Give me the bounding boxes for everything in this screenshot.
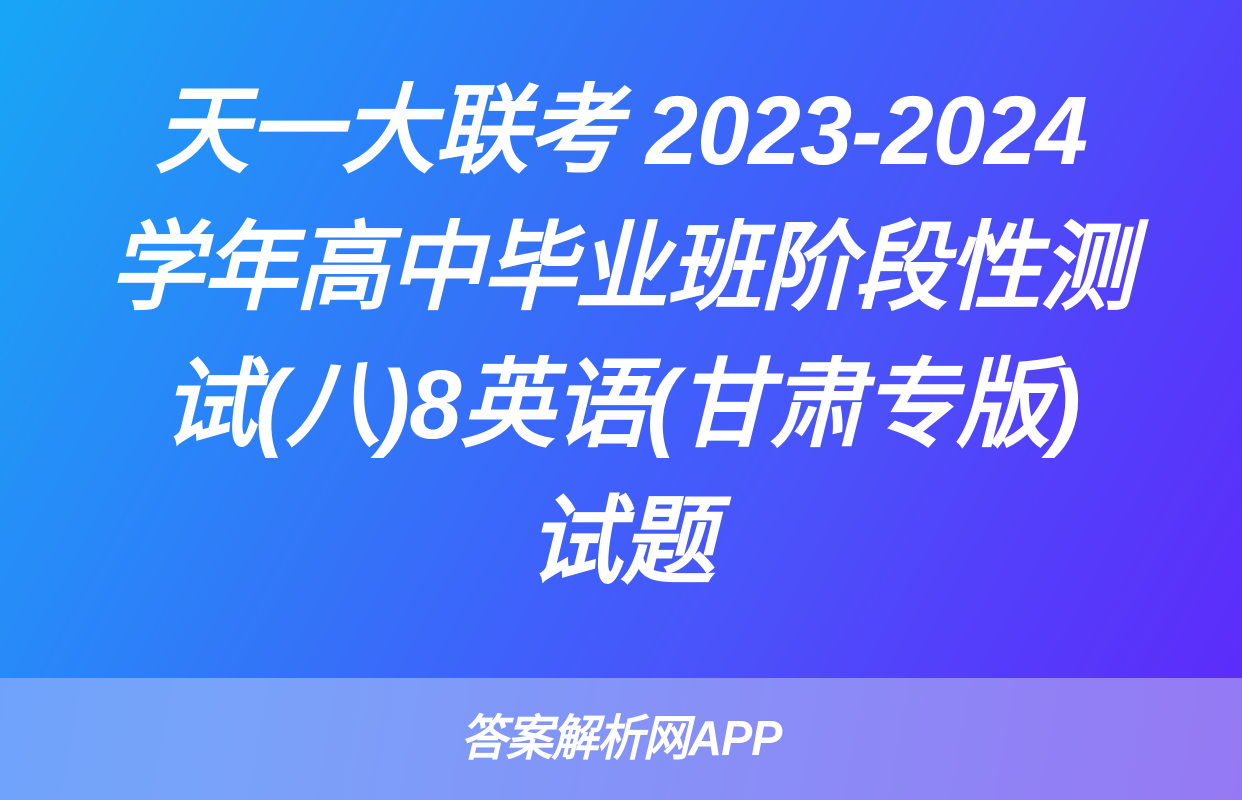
hero-gradient-panel: 天一大联考 2023-2024 学年高中毕业班阶段性测 试(八)8英语(甘肃专版… [0,0,1242,678]
title-line-2: 学年高中毕业班阶段性测 [44,199,1198,336]
title-line-1: 天一大联考 2023-2024 [44,62,1198,199]
app-watermark-label: 答案解析网APP [461,715,782,764]
exam-cover-banner: 天一大联考 2023-2024 学年高中毕业班阶段性测 试(八)8英语(甘肃专版… [0,0,1242,800]
title-line-4: 试题 [44,473,1198,610]
footer-watermark-band: 答案解析网APP [0,678,1242,800]
page-title: 天一大联考 2023-2024 学年高中毕业班阶段性测 试(八)8英语(甘肃专版… [26,62,1216,610]
title-line-3: 试(八)8英语(甘肃专版) [44,336,1198,473]
